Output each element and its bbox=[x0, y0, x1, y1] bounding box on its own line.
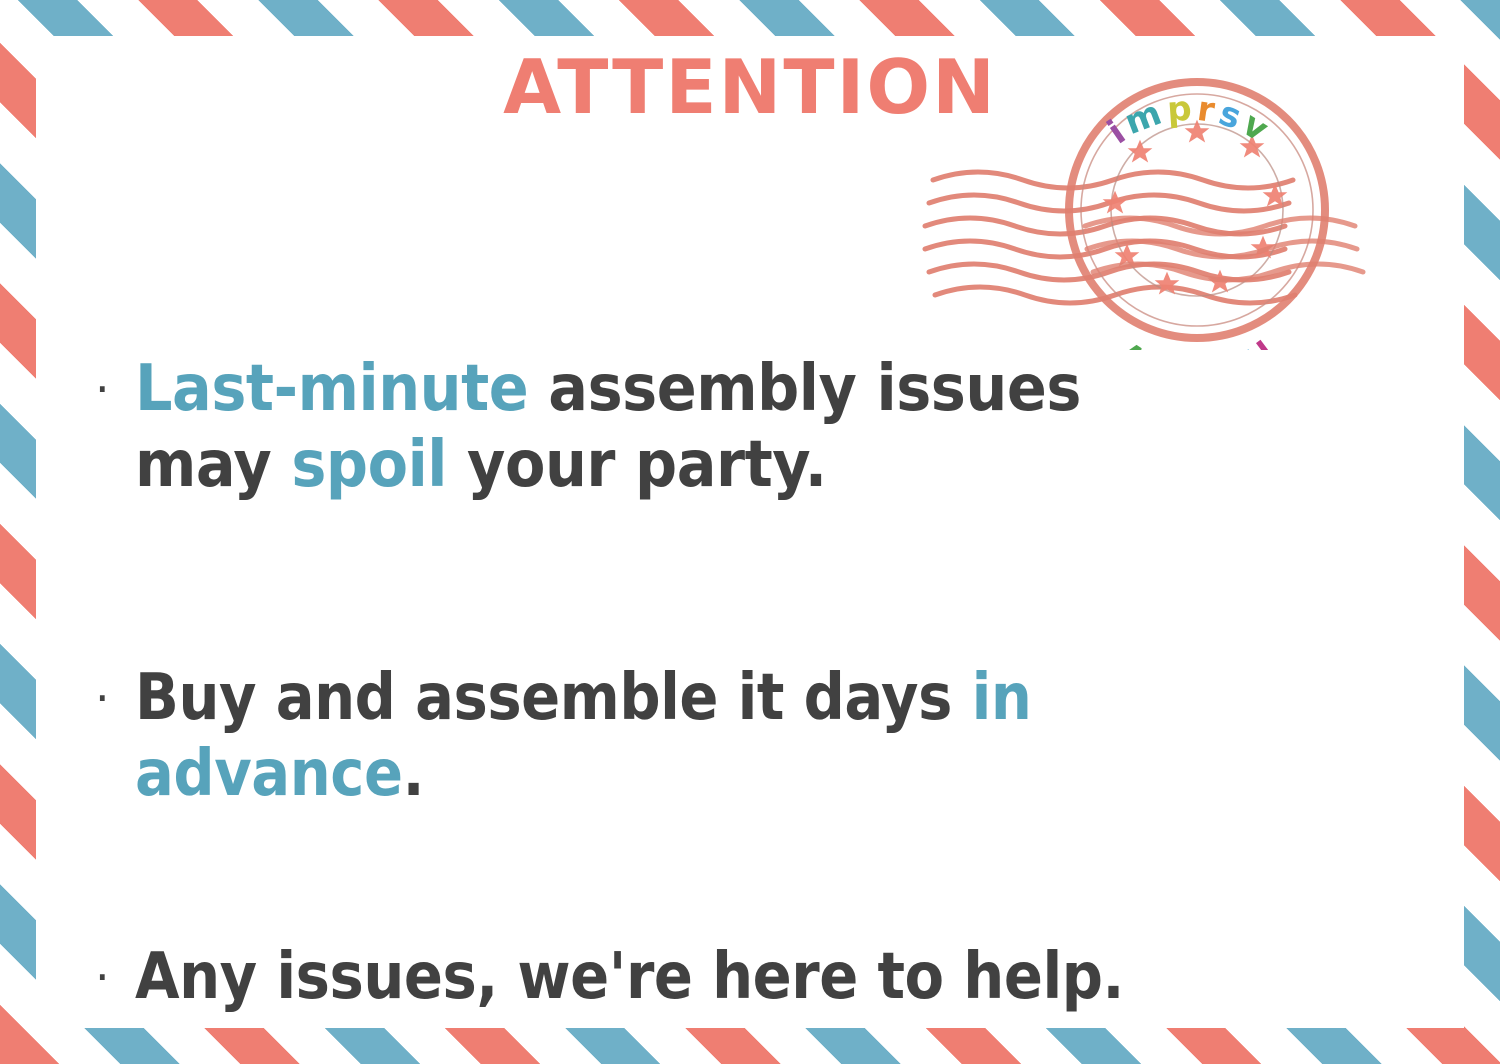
airmail-notice-card: ATTENTION bbox=[0, 0, 1500, 1064]
list-item-line: may spoil your party. bbox=[135, 428, 1345, 504]
cancellation-waves-icon bbox=[925, 172, 1295, 303]
list-item-line: Last-minute assembly issues bbox=[135, 352, 1345, 428]
plain-phrase: assembly issues bbox=[528, 352, 1081, 426]
bullet-marker-icon: · bbox=[95, 352, 135, 412]
list-item-text: Last-minute assembly issues may spoil yo… bbox=[135, 352, 1345, 503]
postmark-stamp: imprsv imprsv bbox=[915, 70, 1435, 350]
list-item: · Any issues, we're here to help. bbox=[95, 940, 1450, 1016]
list-item-text: Buy and assemble it days in advance. bbox=[135, 661, 1319, 812]
bullet-marker-icon: · bbox=[95, 661, 135, 721]
list-item-text: Any issues, we're here to help. bbox=[135, 940, 1319, 1016]
list-item-line: Buy and assemble it days in advance. bbox=[135, 661, 1319, 812]
postmark-svg: imprsv imprsv bbox=[915, 70, 1435, 350]
highlight-phrase: spoil bbox=[291, 428, 447, 502]
plain-phrase: Any issues, we're here to help. bbox=[135, 940, 1124, 1014]
list-item: · Buy and assemble it days in advance. bbox=[95, 661, 1450, 812]
bullet-marker-icon: · bbox=[95, 940, 135, 1000]
plain-phrase: may bbox=[135, 428, 291, 502]
plain-phrase: your party. bbox=[447, 428, 827, 502]
notice-bullet-list: · Last-minute assembly issues may spoil … bbox=[95, 352, 1450, 1016]
card-content: ATTENTION bbox=[0, 0, 1500, 1064]
list-item-line: Any issues, we're here to help. bbox=[135, 940, 1319, 1016]
plain-phrase: . bbox=[403, 737, 424, 811]
list-item: · Last-minute assembly issues may spoil … bbox=[95, 352, 1450, 503]
highlight-phrase: Last-minute bbox=[135, 352, 528, 426]
plain-phrase: Buy and assemble it days bbox=[135, 661, 972, 735]
